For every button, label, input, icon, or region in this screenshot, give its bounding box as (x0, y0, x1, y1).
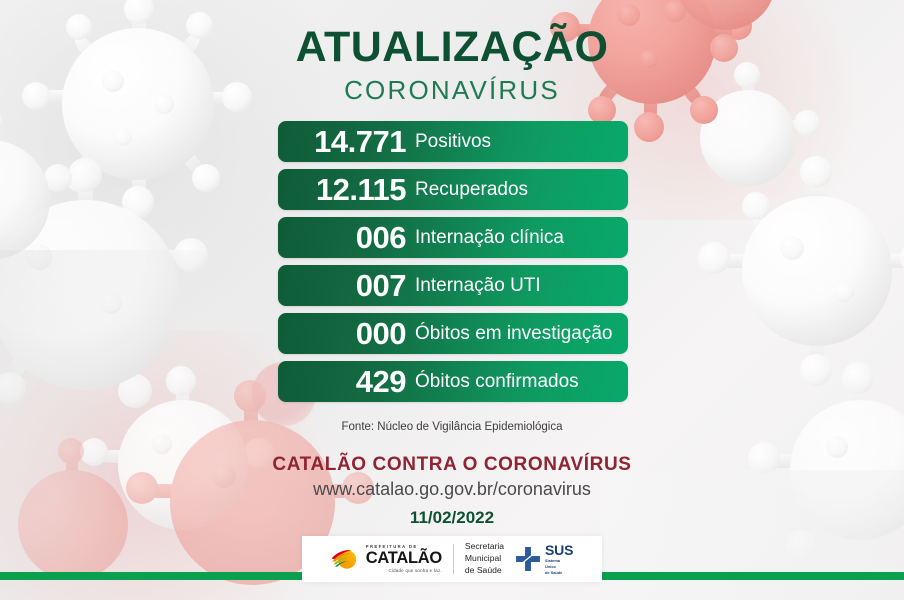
stat-row-internacao-uti: 007Internação UTI (278, 265, 628, 306)
logo-divider (453, 544, 454, 574)
secretaria-line-3: de Saúde (465, 565, 504, 577)
secretaria-line-2: Municipal (465, 553, 504, 565)
stat-label-obitos-confirmados: Óbitos confirmados (415, 372, 579, 391)
statistics-list: 14.771Positivos12.115Recuperados006Inter… (278, 121, 628, 409)
stat-value-obitos-em-investigacao: 000 (278, 318, 415, 349)
catalao-sun-icon (331, 546, 361, 571)
stat-label-recuperados: Recuperados (415, 180, 528, 199)
logo-bar: PREFEITURA DE CATALÃO Cidade que sonha e… (302, 536, 602, 582)
sus-cross-icon (515, 546, 541, 572)
stat-row-positivos: 14.771Positivos (278, 121, 628, 162)
secretaria-saude-logo: Secretaria Municipal de Saúde (465, 541, 504, 577)
sus-tag-line-3: de Saúde (545, 570, 573, 575)
sus-wordmark: SUS Sistema Único de Saúde (545, 543, 573, 575)
stat-label-internacao-clinica: Internação clínica (415, 228, 564, 247)
sus-logo: SUS Sistema Único de Saúde (515, 543, 573, 575)
stat-value-internacao-uti: 007 (278, 270, 415, 301)
campaign-title: CATALÃO CONTRA O CORONAVÍRUS (0, 454, 904, 476)
stat-row-obitos-confirmados: 429Óbitos confirmados (278, 361, 628, 402)
stat-label-internacao-uti: Internação UTI (415, 276, 541, 295)
stat-label-obitos-em-investigacao: Óbitos em investigação (415, 324, 613, 343)
catalao-wordmark: PREFEITURA DE CATALÃO Cidade que sonha e… (366, 545, 442, 573)
stat-row-recuperados: 12.115Recuperados (278, 169, 628, 210)
catalao-tagline: Cidade que sonha e faz. (366, 569, 442, 573)
website-url[interactable]: www.catalao.go.gov.br/coronavirus (0, 479, 904, 500)
catalao-name: CATALÃO (366, 550, 442, 567)
prefeitura-catalao-logo: PREFEITURA DE CATALÃO Cidade que sonha e… (331, 545, 442, 573)
report-date: 11/02/2022 (0, 508, 904, 528)
sus-name: SUS (545, 543, 573, 557)
secretaria-line-1: Secretaria (465, 541, 504, 553)
page-title: ATUALIZAÇÃO (0, 26, 904, 69)
stat-value-recuperados: 12.115 (278, 174, 415, 205)
page-subtitle: CORONAVÍRUS (0, 77, 904, 103)
stat-row-internacao-clinica: 006Internação clínica (278, 217, 628, 258)
source-note: Fonte: Núcleo de Vigilância Epidemiológi… (0, 421, 904, 433)
poster-content: ATUALIZAÇÃO CORONAVÍRUS 14.771Positivos1… (0, 0, 904, 600)
coronavirus-update-poster: ATUALIZAÇÃO CORONAVÍRUS 14.771Positivos1… (0, 0, 904, 600)
stat-value-internacao-clinica: 006 (278, 222, 415, 253)
sus-tag-line-2: Único (545, 564, 573, 569)
title-block: ATUALIZAÇÃO CORONAVÍRUS (0, 26, 904, 103)
sus-tag-line-1: Sistema (545, 558, 573, 563)
stat-value-positivos: 14.771 (278, 126, 415, 157)
stat-label-positivos: Positivos (415, 132, 491, 151)
stat-value-obitos-confirmados: 429 (278, 366, 415, 397)
stat-row-obitos-em-investigacao: 000Óbitos em investigação (278, 313, 628, 354)
